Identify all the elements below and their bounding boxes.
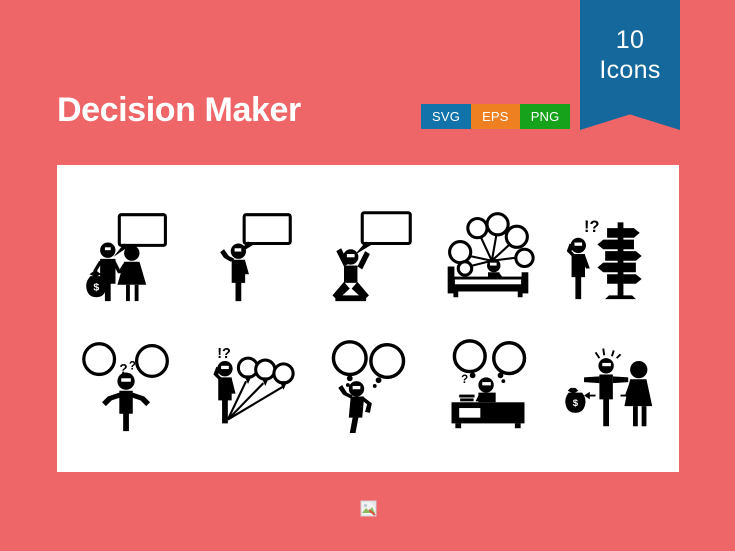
icon-person-three-balloon-options[interactable]: !? bbox=[187, 320, 307, 450]
ribbon-word: Icons bbox=[599, 55, 660, 85]
format-badge-svg[interactable]: SVG bbox=[421, 104, 471, 129]
svg-text:!?: !? bbox=[584, 218, 599, 236]
icon-couple-money-speech-bubble[interactable]: $ bbox=[67, 190, 187, 320]
icon-person-confused-signpost[interactable]: !? bbox=[549, 190, 669, 320]
broken-image-placeholder bbox=[360, 500, 377, 517]
icon-person-in-bed-many-options[interactable] bbox=[428, 190, 548, 320]
icon-person-at-desk-two-bubbles[interactable]: ? bbox=[428, 320, 548, 450]
format-badge-png[interactable]: PNG bbox=[520, 104, 571, 129]
svg-text:?: ? bbox=[462, 374, 469, 386]
icon-shrugging-person-two-options[interactable]: ? ? bbox=[67, 320, 187, 450]
svg-text:!?: !? bbox=[217, 346, 231, 362]
format-badge-eps[interactable]: EPS bbox=[471, 104, 520, 129]
svg-text:$: $ bbox=[573, 398, 579, 409]
ribbon-count: 10 bbox=[616, 25, 644, 55]
icon-thinking-person-two-bubbles[interactable] bbox=[308, 320, 428, 450]
icon-thinking-person-speech-bubble[interactable] bbox=[187, 190, 307, 320]
format-badge-group: SVG EPS PNG bbox=[421, 104, 570, 129]
icon-kneeling-person-arms-up-speech-bubble[interactable] bbox=[308, 190, 428, 320]
icon-person-choosing-money-or-woman[interactable]: $ bbox=[549, 320, 669, 450]
icon-grid: $ bbox=[57, 165, 679, 472]
icon-count-ribbon: 10 Icons bbox=[580, 0, 680, 130]
page-title: Decision Maker bbox=[57, 89, 301, 131]
svg-text:$: $ bbox=[94, 282, 100, 294]
icon-preview-card: $ bbox=[57, 165, 679, 472]
svg-text:?: ? bbox=[129, 361, 136, 373]
